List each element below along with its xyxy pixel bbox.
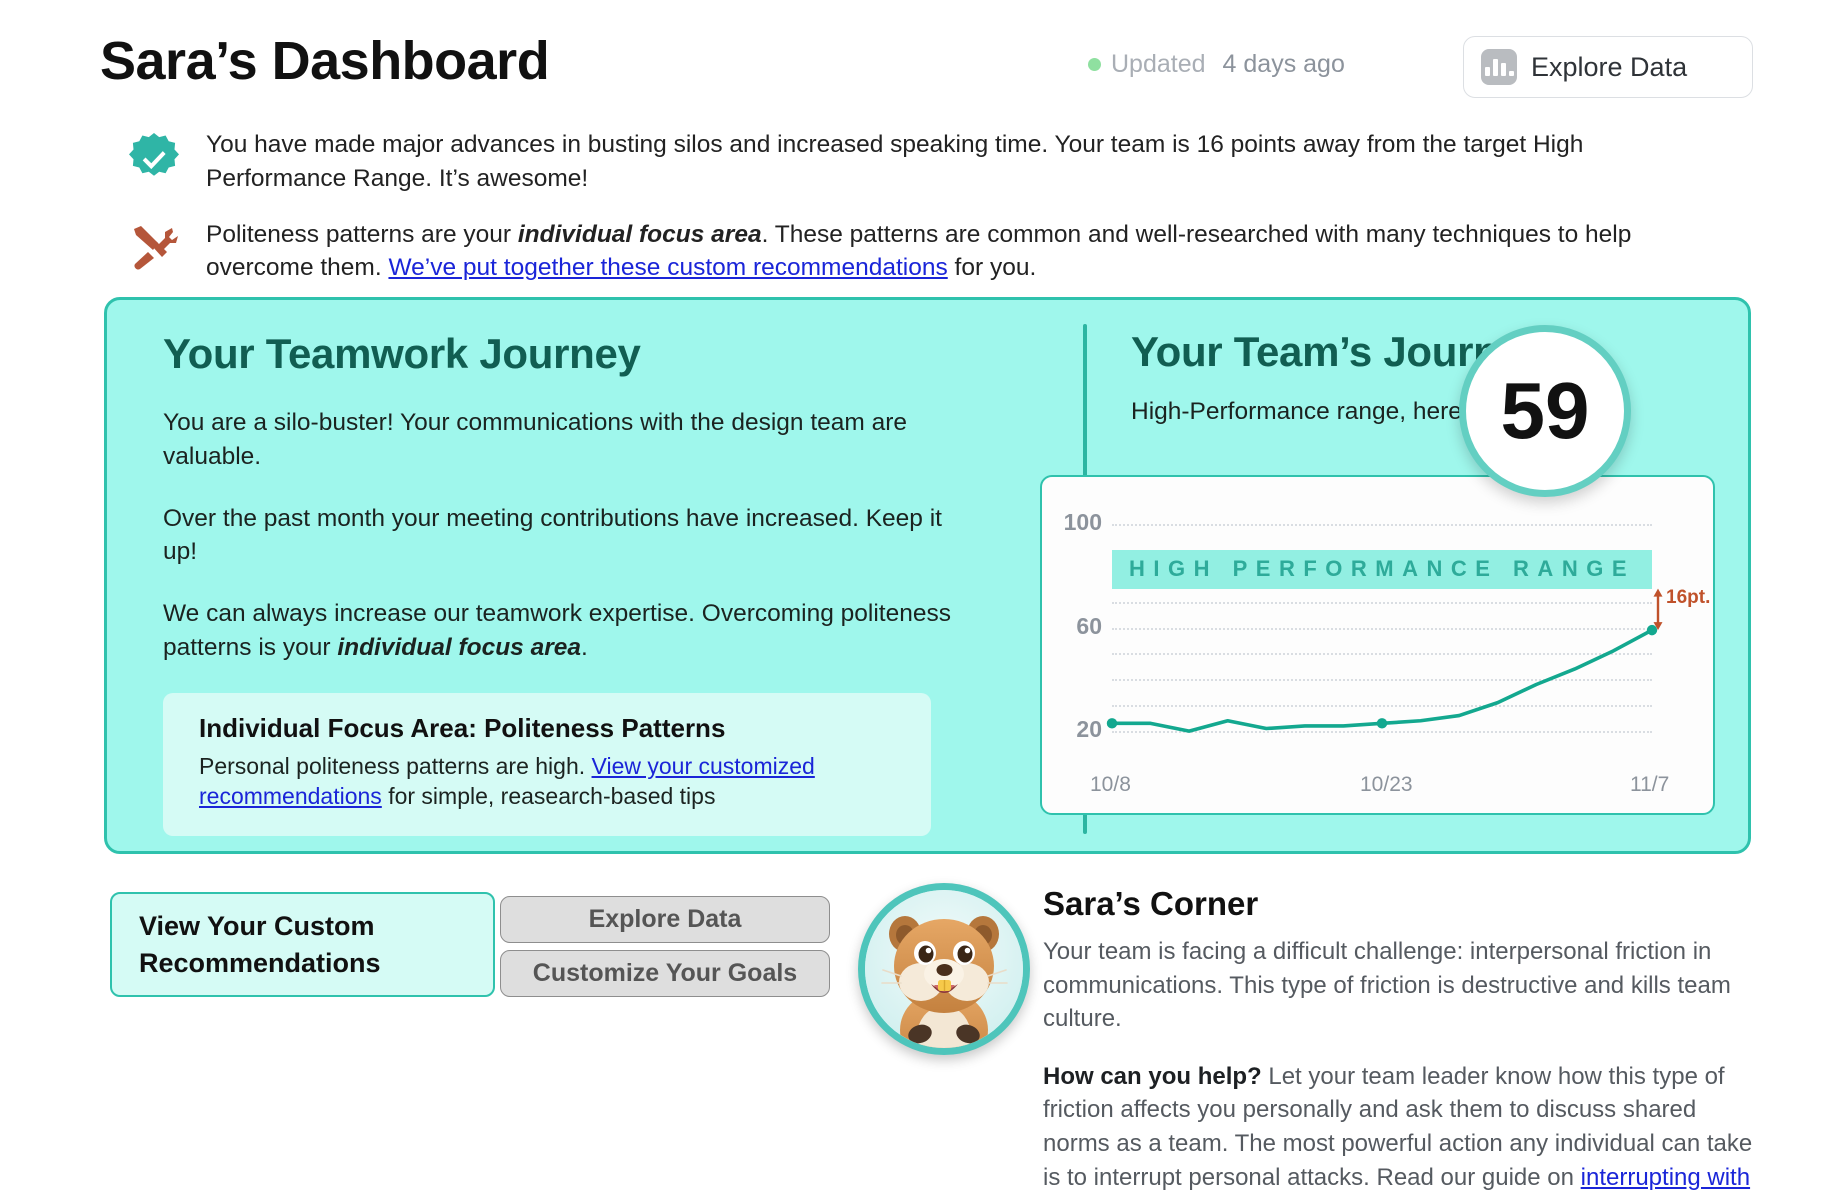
chart-x-tick-label: 11/7 xyxy=(1630,773,1669,797)
team-score-value: 59 xyxy=(1501,365,1590,457)
alert-focus-emphasis: individual focus area xyxy=(518,221,762,248)
alert-focus-part1: Politeness patterns are your xyxy=(206,221,518,248)
page-title: Sara’s Dashboard xyxy=(100,30,549,92)
verified-check-badge-icon xyxy=(128,128,184,196)
teamwork-journey-heading: Your Teamwork Journey xyxy=(163,330,1043,378)
how-can-you-help-label: How can you help? xyxy=(1043,1063,1262,1090)
alert-text-progress: You have made major advances in busting … xyxy=(206,128,1716,196)
updated-status: Updated 4 days ago xyxy=(1088,50,1345,79)
updated-label: Updated xyxy=(1111,50,1206,79)
chart-line-series xyxy=(1042,477,1715,815)
team-score-badge: 59 xyxy=(1459,325,1631,497)
alert-row-progress: You have made major advances in busting … xyxy=(128,128,1728,196)
tools-wrench-screwdriver-icon xyxy=(128,218,184,286)
explore-data-button-secondary[interactable]: Explore Data xyxy=(500,896,830,943)
view-custom-recommendations-button[interactable]: View Your Custom Recommendations xyxy=(110,892,495,997)
team-journey-column: Your Team’s Journey High-Performance ran… xyxy=(1131,328,1721,426)
updated-value: 4 days ago xyxy=(1223,50,1345,79)
individual-focus-area-box: Individual Focus Area: Politeness Patter… xyxy=(163,693,931,836)
view-custom-recommendations-label: View Your Custom Recommendations xyxy=(139,908,493,981)
saras-corner-section: Sara’s Corner Your team is facing a diff… xyxy=(1043,885,1763,1200)
focus-body-part1: Personal politeness patterns are high. xyxy=(199,753,592,779)
dashboard-page: Sara’s Dashboard Updated 4 days ago Expl… xyxy=(0,0,1832,1200)
alert-row-focus: Politeness patterns are your individual … xyxy=(128,218,1728,286)
alerts-section: You have made major advances in busting … xyxy=(128,128,1728,307)
teamwork-p3-emphasis: individual focus area xyxy=(337,634,581,661)
team-journey-subtitle: High-Performance range, here we come! xyxy=(1131,398,1721,426)
focus-area-body: Personal politeness patterns are high. V… xyxy=(199,751,907,812)
customize-goals-button[interactable]: Customize Your Goals xyxy=(500,950,830,997)
saras-corner-title: Sara’s Corner xyxy=(1043,885,1763,923)
alert-text-focus: Politeness patterns are your individual … xyxy=(206,218,1716,286)
beaver-mascot-avatar-icon xyxy=(865,890,1023,1048)
chart-x-tick-label: 10/8 xyxy=(1090,773,1131,797)
explore-data-button-header[interactable]: Explore Data xyxy=(1463,36,1753,98)
saras-corner-paragraph-2: How can you help? Let your team leader k… xyxy=(1043,1060,1763,1200)
focus-body-part2: for simple, reasearch-based tips xyxy=(382,783,716,809)
alert-focus-part3: for you. xyxy=(948,254,1037,281)
teamwork-journey-column: Your Teamwork Journey You are a silo-bus… xyxy=(163,330,1043,836)
chart-data-point xyxy=(1107,718,1117,728)
team-journey-chart[interactable]: HIGH PERFORMANCE RANGE100602016pt. gap10… xyxy=(1040,475,1715,815)
chart-data-point xyxy=(1647,625,1657,635)
teamwork-paragraph-1: You are a silo-buster! Your communicatio… xyxy=(163,406,953,474)
avatar xyxy=(858,883,1030,1055)
focus-area-title: Individual Focus Area: Politeness Patter… xyxy=(199,713,907,744)
bar-chart-icon xyxy=(1481,49,1517,85)
teamwork-paragraph-3: We can always increase our teamwork expe… xyxy=(163,597,953,665)
saras-corner-paragraph-1: Your team is facing a difficult challeng… xyxy=(1043,935,1763,1036)
chart-data-point xyxy=(1377,718,1387,728)
explore-data-button-label: Explore Data xyxy=(1531,52,1687,83)
customize-goals-label: Customize Your Goals xyxy=(533,959,797,988)
teamwork-p3-part2: . xyxy=(581,634,588,661)
teamwork-paragraph-2: Over the past month your meeting contrib… xyxy=(163,502,953,570)
status-dot-icon xyxy=(1088,58,1101,71)
page-header: Sara’s Dashboard Updated 4 days ago Expl… xyxy=(0,0,1832,120)
explore-data-secondary-label: Explore Data xyxy=(589,905,742,934)
chart-plot-area: HIGH PERFORMANCE RANGE100602016pt. gap10… xyxy=(1042,477,1715,815)
chart-x-tick-label: 10/23 xyxy=(1360,773,1413,797)
custom-recommendations-link[interactable]: We’ve put together these custom recommen… xyxy=(388,254,947,281)
team-journey-heading: Your Team’s Journey xyxy=(1131,328,1721,376)
